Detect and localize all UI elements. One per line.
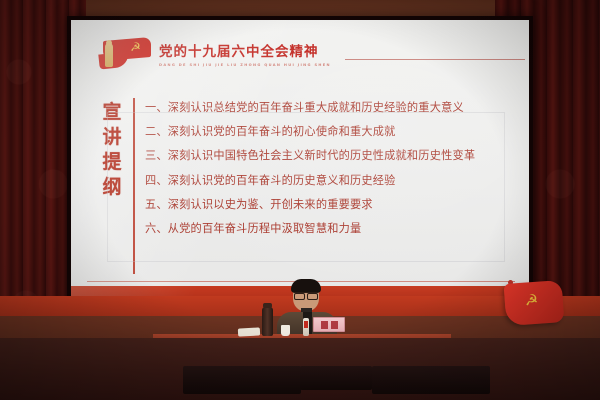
speaker-hair	[291, 279, 321, 293]
party-flag-icon: ☭	[504, 280, 565, 326]
water-bottle	[303, 318, 309, 336]
outline-list: 一、深刻认识总结党的百年奋斗重大成就和历史经验的重大意义 二、深刻认识党的百年奋…	[145, 94, 529, 241]
vlabel-char-3: 提	[102, 150, 121, 175]
glasses-icon	[294, 292, 318, 297]
header-divider	[345, 59, 525, 60]
documents-on-desk	[238, 327, 260, 336]
nameplate-char	[331, 321, 338, 329]
slide-body: 宣 讲 提 纲 一、深刻认识总结党的百年奋斗重大成就和历史经验的重大意义 二、深…	[71, 94, 529, 278]
outline-item: 四、深刻认识党的百年奋斗的历史意义和历史经验	[145, 169, 523, 193]
desk-nameplate	[313, 317, 345, 332]
vlabel-char-1: 宣	[102, 100, 121, 125]
vlabel-char-4: 纲	[102, 175, 121, 200]
audience-chair-back	[300, 366, 372, 390]
outline-item: 五、深刻认识以史为鉴、开创未来的重要要求	[145, 193, 523, 217]
hammer-sickle-icon: ☭	[129, 41, 142, 54]
vertical-divider	[133, 98, 135, 274]
outline-item: 二、深刻认识党的百年奋斗的初心使命和重大成就	[145, 120, 523, 144]
outline-item: 三、深刻认识中国特色社会主义新时代的历史性成就和历史性变革	[145, 144, 523, 168]
paper-cup	[281, 325, 290, 336]
vertical-section-label: 宣 讲 提 纲	[91, 94, 133, 200]
vlabel-char-2: 讲	[102, 125, 121, 150]
slide-title-pinyin: DANG DE SHI JIU JIE LIU ZHONG QUAN HUI J…	[159, 63, 331, 67]
outline-item: 六、从党的百年奋斗历程中汲取智慧和力量	[145, 217, 523, 241]
lecture-hall-photo: ☭ 党的十九届六中全会精神 DANG DE SHI JIU JIE LIU ZH…	[0, 0, 600, 400]
audience-chair-back	[372, 366, 490, 394]
party-flag-emblem-icon: ☭	[93, 35, 153, 75]
hammer-sickle-icon: ☭	[524, 293, 538, 309]
audience-chair-back	[183, 366, 301, 394]
slide-title-block: 党的十九届六中全会精神 DANG DE SHI JIU JIE LIU ZHON…	[159, 44, 331, 67]
nameplate-char	[321, 321, 328, 329]
thermos-flask	[262, 307, 273, 336]
slide-title: 党的十九届六中全会精神	[159, 44, 331, 60]
outline-item: 一、深刻认识总结党的百年奋斗重大成就和历史经验的重大意义	[145, 96, 523, 120]
slide-header: ☭ 党的十九届六中全会精神 DANG DE SHI JIU JIE LIU ZH…	[71, 32, 529, 78]
